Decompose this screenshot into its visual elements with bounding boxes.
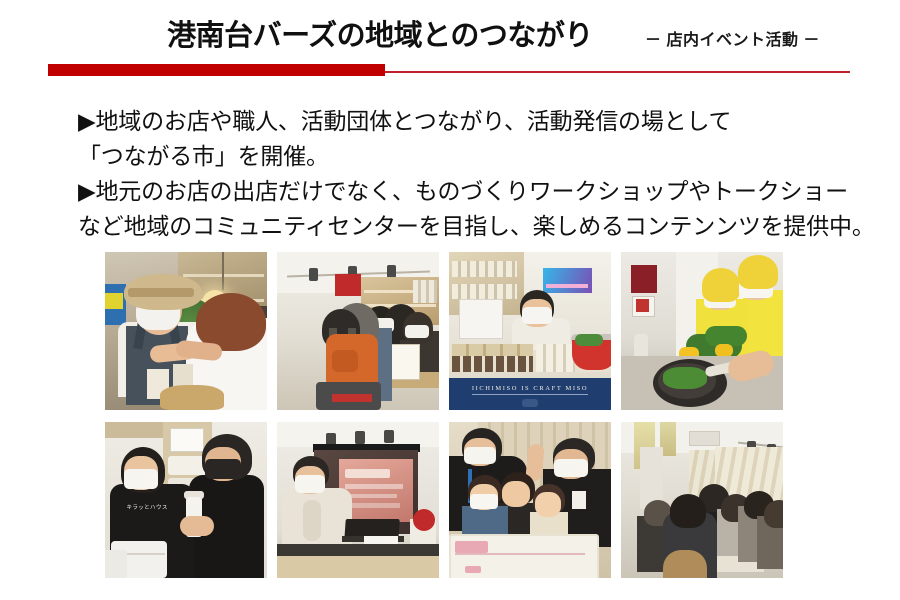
photo-kirattohouse-workshop-art: キラッとハウス — [105, 422, 267, 578]
body-line-4: など地域のコミュニティセンターを目指し、楽しめるコンテンンツを提供中。 — [78, 209, 868, 244]
header-divider-accent — [48, 64, 385, 76]
slide-header: 港南台バーズの地域とのつながり － 店内イベント活動 － — [0, 0, 900, 80]
photo-kirattohouse-workshop: キラッとハウス — [105, 422, 267, 578]
photo-talk-show — [277, 422, 439, 578]
photo-grid: IICHIMISO IS CRAFT MISO — [105, 252, 783, 578]
photo-market-crowd-art — [277, 252, 439, 410]
photo-market-handshake — [105, 252, 267, 410]
photo-market-crowd — [277, 252, 439, 410]
photo-craft-workshop — [621, 422, 783, 578]
miso-banner-text: IICHIMISO IS CRAFT MISO — [449, 385, 611, 392]
photo-cooking-workshop-art — [621, 252, 783, 410]
photo-miso-booth-art: IICHIMISO IS CRAFT MISO — [449, 252, 611, 410]
body-line-1: ▶地域のお店や職人、活動団体とつながり、活動発信の場として — [78, 104, 868, 139]
photo-craft-workshop-art — [621, 422, 783, 578]
photo-miso-booth: IICHIMISO IS CRAFT MISO — [449, 252, 611, 410]
photo-kids-activity — [449, 422, 611, 578]
photo-kids-activity-art — [449, 422, 611, 578]
body-line-2: 「つながる市」を開催。 — [78, 139, 868, 174]
page-subtitle: － 店内イベント活動 － — [645, 31, 820, 51]
photo-cooking-workshop — [621, 252, 783, 410]
photo-market-handshake-art — [105, 252, 267, 410]
slide-root: 港南台バーズの地域とのつながり － 店内イベント活動 － ▶地域のお店や職人、活… — [0, 0, 900, 600]
body-line-3: ▶地元のお店の出店だけでなく、ものづくりワークショップやトークショー — [78, 174, 868, 209]
body-text-block: ▶地域のお店や職人、活動団体とつながり、活動発信の場として 「つながる市」を開催… — [78, 104, 868, 244]
kiratto-house-logo-text: キラッとハウス — [115, 505, 180, 512]
photo-talk-show-art — [277, 422, 439, 578]
